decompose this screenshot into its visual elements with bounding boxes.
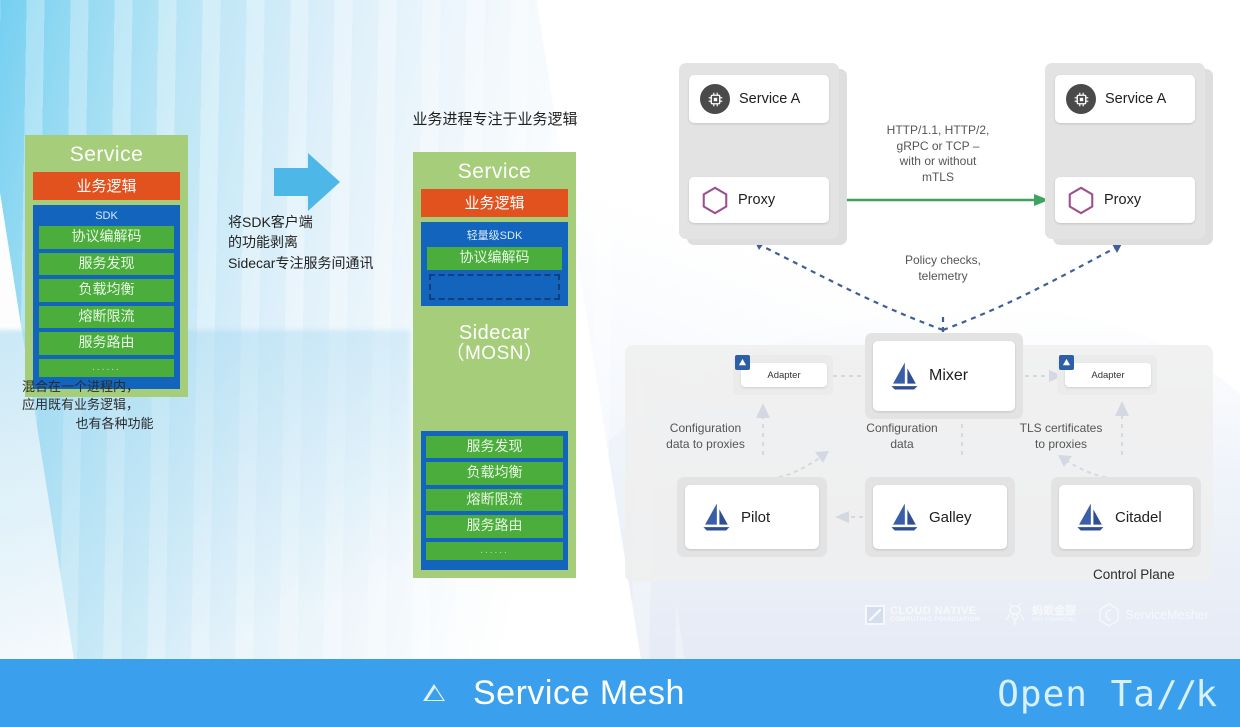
left-proxy-label: Proxy	[738, 192, 775, 208]
istio-sail-icon	[887, 501, 921, 533]
sidecar-card: Sidecar （MOSN） 服务发现 负载均衡 熔断限流 服务路由 .....…	[413, 310, 576, 578]
pilot-label: Pilot	[741, 509, 770, 526]
config-data-note: Configuration data	[843, 421, 961, 452]
sidecar-title-line2: （MOSN）	[421, 344, 568, 365]
monolith-title: Service	[33, 141, 180, 172]
middle-caption: 业务进程专注于业务逻辑	[390, 108, 600, 129]
tls-certs-line: to proxies	[1001, 437, 1121, 453]
left-service-card: Service A	[689, 75, 829, 123]
right-arrow-icon	[272, 151, 342, 213]
servicemesher-mark-icon	[1098, 603, 1120, 627]
sidecar-capability-block: 服务发现 负载均衡 熔断限流 服务路由 ......	[421, 431, 568, 571]
sidecar-title-line1: Sidecar	[421, 322, 568, 344]
capability-ellipsis: ......	[426, 542, 563, 561]
sponsor-logos: CLOUD NATIVE COMPUTING FOUNDATION 蚂蚁金服 A…	[865, 598, 1235, 632]
cncf-mark-icon	[865, 605, 885, 625]
right-adapter-badge-icon	[1059, 355, 1074, 370]
galley-label: Galley	[929, 509, 972, 526]
right-proxy-card: Proxy	[1055, 177, 1195, 223]
left-adapter-badge-icon	[735, 355, 750, 370]
istio-architecture-diagram: Service A Proxy Service A Proxy HTTP/1.1…	[625, 55, 1240, 600]
right-adapter-card: Adapter	[1065, 363, 1151, 387]
left-adapter-card: Adapter	[741, 363, 827, 387]
right-adapter-label: Adapter	[1091, 370, 1124, 381]
monolith-note: 混合在一个进程内， 应用既有业务逻辑， 也有各种功能	[22, 378, 207, 433]
cncf-logo: CLOUD NATIVE COMPUTING FOUNDATION	[865, 605, 980, 625]
citadel-label: Citadel	[1115, 509, 1162, 526]
opentalk-brand: Open Ta//k	[997, 674, 1218, 715]
monolith-business-logic: 业务逻辑	[33, 172, 180, 200]
capability-item: 熔断限流	[426, 489, 563, 512]
protocol-note-line: gRPC or TCP –	[843, 139, 1033, 155]
hexagon-proxy-icon	[700, 185, 730, 215]
config-to-proxies-line: data to proxies	[643, 437, 768, 453]
capability-item: 熔断限流	[39, 306, 174, 329]
banner-title-group: Service Mesh	[423, 674, 685, 713]
config-to-proxies-note: Configuration data to proxies	[643, 421, 768, 452]
monolith-note-line: 混合在一个进程内，	[22, 378, 207, 396]
cncf-logo-line2: COMPUTING FOUNDATION	[890, 617, 980, 624]
lightweight-sdk-label: 轻量级SDK	[427, 226, 562, 247]
config-to-proxies-line: Configuration	[643, 421, 768, 437]
triangle-icon	[423, 684, 447, 703]
capability-item: 服务发现	[39, 253, 174, 276]
capability-item: 服务发现	[426, 436, 563, 459]
split-service-card: Service 业务逻辑 轻量级SDK 协议编解码	[413, 152, 576, 314]
monolith-sdk-label: SDK	[39, 209, 174, 226]
right-proxy-label: Proxy	[1104, 192, 1141, 208]
policy-note: Policy checks, telemetry	[853, 253, 1033, 284]
config-data-line: data	[843, 437, 961, 453]
istio-sail-icon	[1073, 501, 1107, 533]
split-service-sdk-block: 轻量级SDK 协议编解码	[421, 222, 568, 306]
monolith-note-line: 应用既有业务逻辑，	[22, 396, 207, 414]
pilot-card: Pilot	[685, 485, 819, 549]
transform-note: 将SDK客户端 的功能剥离 Sidecar专注服务间通讯	[228, 212, 408, 273]
split-service-title: Service	[421, 158, 568, 189]
config-data-line: Configuration	[843, 421, 961, 437]
protocol-note: HTTP/1.1, HTTP/2, gRPC or TCP – with or …	[843, 123, 1033, 185]
tls-certs-note: TLS certificates to proxies	[1001, 421, 1121, 452]
transform-note-line: 的功能剥离	[228, 232, 408, 252]
opentalk-brand-post: k	[1195, 674, 1218, 715]
split-service-business-logic: 业务逻辑	[421, 189, 568, 217]
capability-item: 服务路由	[39, 332, 174, 355]
monolith-service-card: Service 业务逻辑 SDK 协议编解码 服务发现 负载均衡 熔断限流 服务…	[25, 135, 188, 397]
citadel-card: Citadel	[1059, 485, 1193, 549]
cpu-chip-icon	[700, 84, 730, 114]
control-plane-label: Control Plane	[1093, 567, 1175, 582]
galley-card: Galley	[873, 485, 1007, 549]
left-proxy-card: Proxy	[689, 177, 829, 223]
capability-item: 服务路由	[426, 515, 563, 538]
banner-title: Service Mesh	[473, 674, 685, 713]
ant-financial-logo: 蚂蚁金服 ANT FINANCIAL	[1002, 602, 1076, 628]
policy-note-line: telemetry	[853, 269, 1033, 285]
transform-note-line: Sidecar专注服务间通讯	[228, 253, 408, 273]
capability-item: 协议编解码	[39, 226, 174, 249]
mixer-label: Mixer	[929, 367, 968, 385]
mixer-card: Mixer	[873, 341, 1015, 411]
left-service-label: Service A	[739, 91, 800, 107]
right-service-card: Service A	[1055, 75, 1195, 123]
policy-note-line: Policy checks,	[853, 253, 1033, 269]
protocol-note-line: mTLS	[843, 170, 1033, 186]
ant-logo-line2: ANT FINANCIAL	[1032, 618, 1076, 624]
capability-item: 负载均衡	[39, 279, 174, 302]
hexagon-proxy-icon	[1066, 185, 1096, 215]
capability-ellipsis: ......	[39, 359, 174, 378]
monolith-note-line: 也有各种功能	[22, 415, 207, 433]
left-adapter-label: Adapter	[767, 370, 800, 381]
opentalk-brand-slash: //	[1156, 674, 1195, 715]
cpu-chip-icon	[1066, 84, 1096, 114]
istio-sail-icon	[887, 360, 921, 392]
slide: Service 业务逻辑 SDK 协议编解码 服务发现 负载均衡 熔断限流 服务…	[0, 0, 1240, 727]
tls-certs-line: TLS certificates	[1001, 421, 1121, 437]
capability-item: 协议编解码	[427, 247, 562, 270]
ant-mark-icon	[1002, 602, 1028, 628]
istio-sail-icon	[699, 501, 733, 533]
servicemesher-label: ServiceMesher	[1125, 608, 1208, 622]
right-service-label: Service A	[1105, 91, 1166, 107]
bottom-banner: Service Mesh Open Ta//k	[0, 659, 1240, 727]
transform-note-line: 将SDK客户端	[228, 212, 408, 232]
capability-item: 负载均衡	[426, 462, 563, 485]
protocol-note-line: HTTP/1.1, HTTP/2,	[843, 123, 1033, 139]
servicemesher-logo: ServiceMesher	[1098, 603, 1208, 627]
protocol-note-line: with or without	[843, 154, 1033, 170]
monolith-sdk-block: SDK 协议编解码 服务发现 负载均衡 熔断限流 服务路由 ......	[33, 205, 180, 389]
sidecar-title: Sidecar （MOSN）	[421, 316, 568, 371]
empty-capability-placeholder	[429, 274, 560, 300]
opentalk-brand-pre: Open Ta	[997, 674, 1156, 715]
